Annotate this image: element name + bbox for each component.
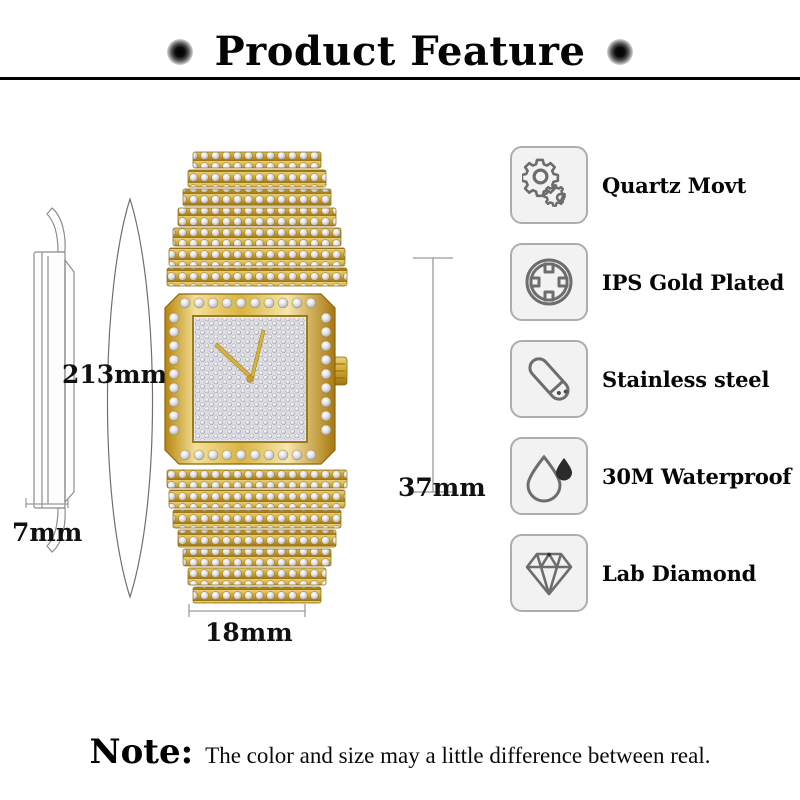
dimension-line-case-height [405,250,461,500]
title-divider [0,77,800,80]
feature-item-quartz-movt: Quartz Movt [510,146,800,224]
note-text: The color and size may a little differen… [205,743,710,769]
feature-icon-box [510,534,588,612]
dimension-label-strap-length: 213mm [62,360,167,389]
feature-label: IPS Gold Plated [602,270,784,295]
feature-item-ips-gold-plated: IPS Gold Plated [510,243,800,321]
product-feature-infographic: Product Feature 213mm 7mm [0,0,800,800]
feature-label: 30M Waterproof [602,464,791,489]
feature-item-waterproof: 30M Waterproof [510,437,800,515]
water-drop-icon [522,449,576,503]
dimension-label-thickness: 7mm [12,518,82,547]
diamond-icon [522,546,576,600]
dimension-label-case-height: 37mm [398,473,486,502]
plating-icon [522,255,576,309]
feature-icon-box [510,340,588,418]
decorative-dot-icon [607,39,633,65]
page-title-row: Product Feature [0,28,800,75]
dimension-label-strap-width: 18mm [205,618,293,647]
page-title: Product Feature [215,28,586,75]
feature-list: Quartz Movt IPS Gold Plated [510,146,800,631]
feature-label: Lab Diamond [602,561,756,586]
feature-icon-box [510,243,588,321]
feature-item-lab-diamond: Lab Diamond [510,534,800,612]
dimension-line-thickness [24,497,70,509]
steel-bar-icon [522,352,576,406]
note-label: Note: [90,732,194,772]
note-row: Note: The color and size may a little di… [0,732,800,772]
feature-icon-box [510,437,588,515]
gear-icon [522,158,576,212]
feature-icon-box [510,146,588,224]
dimension-line-strap-width [186,603,308,617]
feature-label: Quartz Movt [602,173,746,198]
watch-product-image [155,150,360,605]
decorative-dot-icon [167,39,193,65]
feature-label: Stainless steel [602,367,769,392]
feature-item-stainless-steel: Stainless steel [510,340,800,418]
